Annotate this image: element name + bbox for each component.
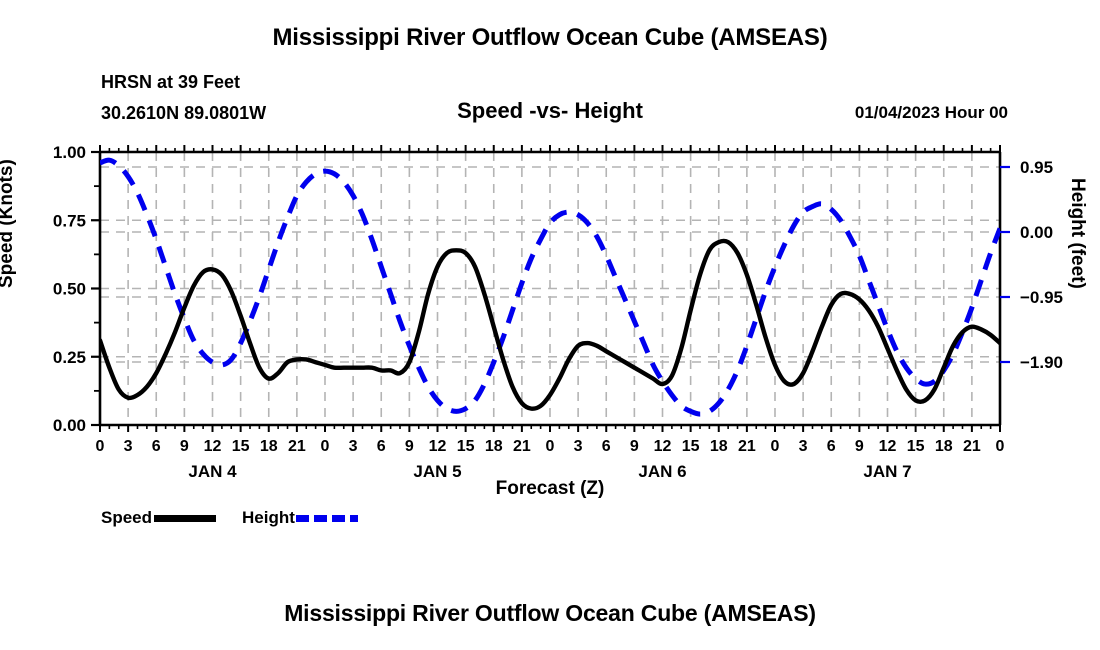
- svg-text:6: 6: [827, 438, 836, 455]
- svg-text:0.75: 0.75: [53, 211, 86, 230]
- svg-text:3: 3: [349, 438, 358, 455]
- svg-text:−1.90: −1.90: [1020, 353, 1063, 372]
- svg-text:0: 0: [546, 438, 555, 455]
- svg-text:18: 18: [710, 438, 728, 455]
- x-axis-title: Forecast (Z): [0, 478, 1100, 500]
- svg-text:12: 12: [879, 438, 897, 455]
- svg-text:0.00: 0.00: [53, 416, 86, 435]
- svg-text:0.50: 0.50: [53, 280, 86, 299]
- chart-page: Mississippi River Outflow Ocean Cube (AM…: [0, 0, 1100, 650]
- svg-text:0.00: 0.00: [1020, 223, 1053, 242]
- svg-text:21: 21: [963, 438, 981, 455]
- svg-text:0: 0: [771, 438, 780, 455]
- svg-text:0: 0: [996, 438, 1005, 455]
- svg-text:0: 0: [96, 438, 105, 455]
- legend-swatch-speed-icon: [154, 515, 216, 522]
- svg-text:3: 3: [574, 438, 583, 455]
- svg-text:6: 6: [377, 438, 386, 455]
- svg-text:6: 6: [602, 438, 611, 455]
- svg-text:9: 9: [630, 438, 639, 455]
- plot-area: 0.000.250.500.751.000.950.00−0.95−1.9003…: [0, 0, 1100, 650]
- svg-text:12: 12: [204, 438, 222, 455]
- svg-text:18: 18: [485, 438, 503, 455]
- legend-label-speed: Speed: [101, 508, 152, 528]
- svg-text:21: 21: [738, 438, 756, 455]
- svg-text:18: 18: [935, 438, 953, 455]
- svg-text:3: 3: [799, 438, 808, 455]
- svg-text:18: 18: [260, 438, 278, 455]
- svg-text:15: 15: [907, 438, 925, 455]
- svg-text:15: 15: [682, 438, 700, 455]
- chart-legend: Speed Height: [101, 508, 358, 528]
- svg-text:21: 21: [288, 438, 306, 455]
- svg-text:9: 9: [180, 438, 189, 455]
- svg-text:0: 0: [321, 438, 330, 455]
- svg-text:6: 6: [152, 438, 161, 455]
- svg-text:0.25: 0.25: [53, 348, 86, 367]
- y-axis-left-title: Speed (Knots): [0, 159, 18, 288]
- svg-text:0.95: 0.95: [1020, 158, 1053, 177]
- y-axis-right-title: Height (feet): [1066, 178, 1088, 289]
- legend-swatch-height-icon: [296, 515, 358, 522]
- svg-text:21: 21: [513, 438, 531, 455]
- svg-text:12: 12: [654, 438, 672, 455]
- svg-text:15: 15: [232, 438, 250, 455]
- svg-text:15: 15: [457, 438, 475, 455]
- svg-text:9: 9: [855, 438, 864, 455]
- speed-height-chart: 0.000.250.500.751.000.950.00−0.95−1.9003…: [0, 0, 1100, 650]
- svg-text:9: 9: [405, 438, 414, 455]
- svg-text:1.00: 1.00: [53, 143, 86, 162]
- svg-text:3: 3: [124, 438, 133, 455]
- footer-title: Mississippi River Outflow Ocean Cube (AM…: [0, 600, 1100, 627]
- svg-text:−0.95: −0.95: [1020, 288, 1063, 307]
- svg-text:12: 12: [429, 438, 447, 455]
- legend-label-height: Height: [242, 508, 295, 528]
